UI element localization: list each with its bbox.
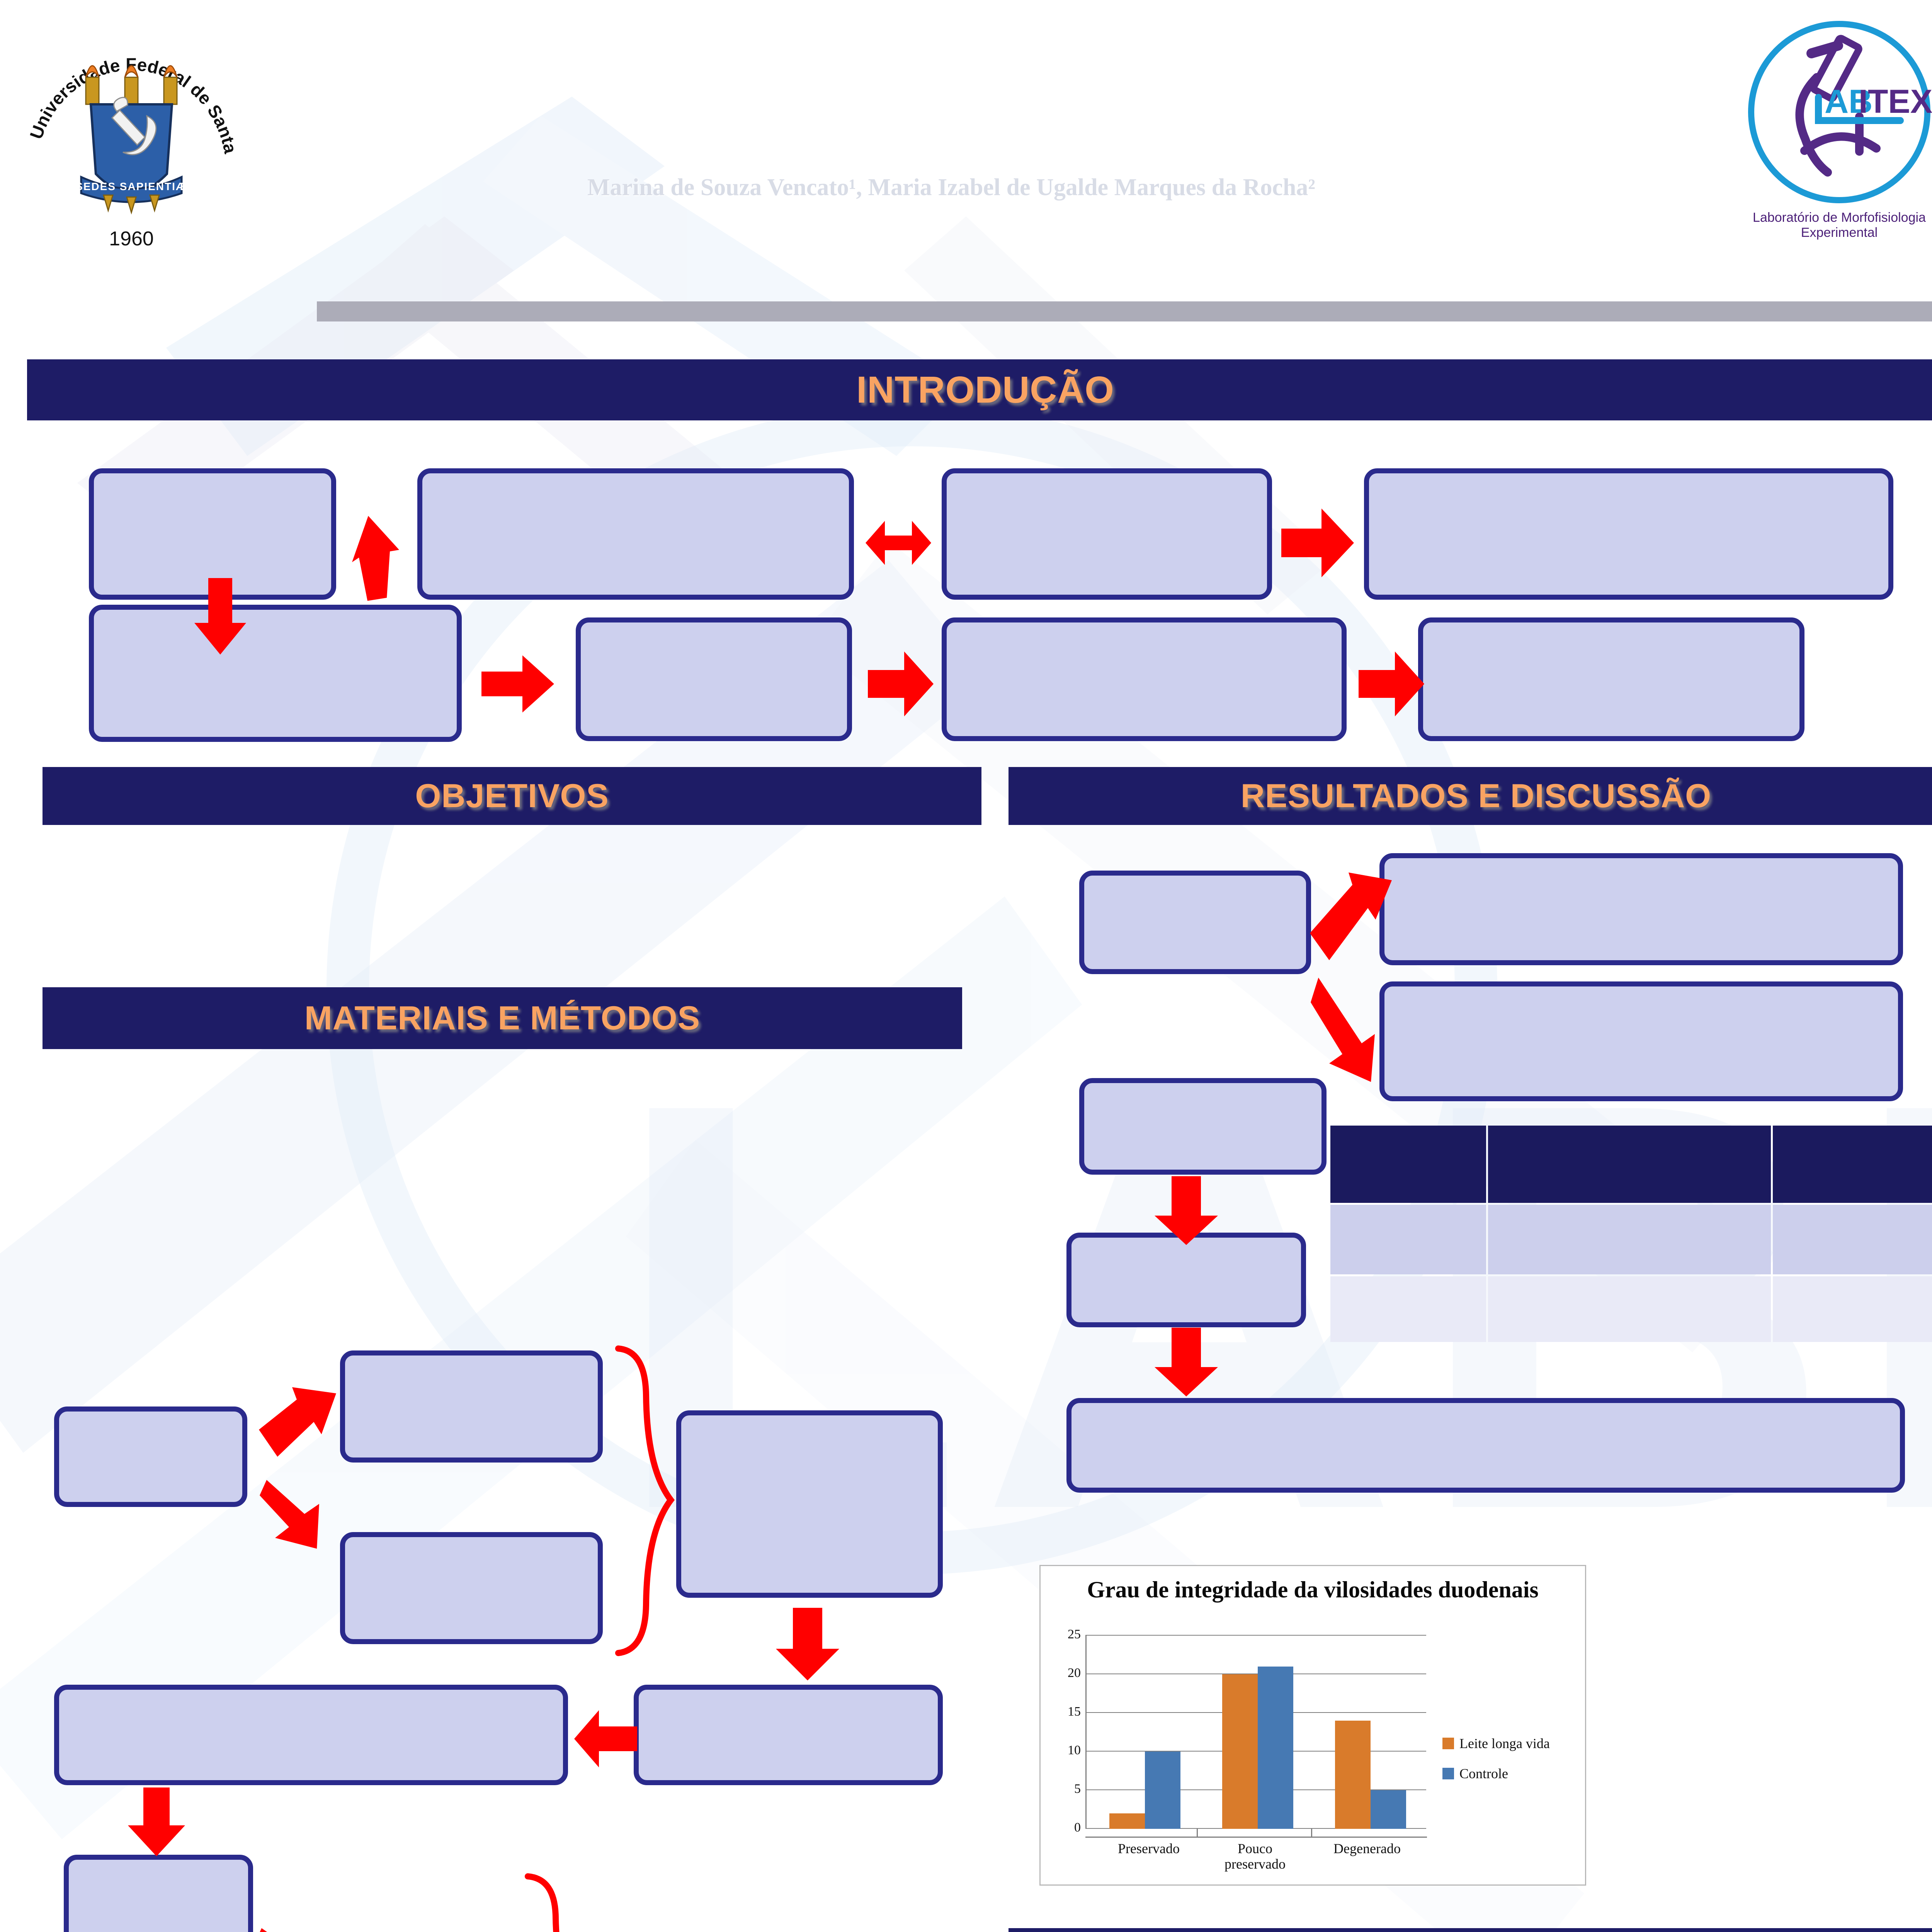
materiais-box-2[interactable] [340,1350,603,1463]
table-row [1330,1276,1932,1342]
y-axis-line [1085,1635,1087,1829]
x-tick-2 [1311,1829,1312,1837]
intro-box-2[interactable] [417,468,854,600]
header-divider-rule [317,301,1932,321]
resultados-th-1 [1330,1126,1486,1203]
arrow-diagonal-right-down-materiais [253,1917,319,1932]
arrow-down-resultados-2 [1151,1325,1221,1399]
legend-swatch-leite [1442,1738,1454,1749]
xtick-pouco-preservado: Pouco preservado [1207,1841,1303,1872]
legend-label-leite: Leite longa vida [1459,1735,1550,1752]
materiais-box-1[interactable] [54,1406,247,1507]
resultados-box-3[interactable] [1379,981,1903,1101]
section-header-introducao: INTRODUÇÃO [27,359,1932,420]
table-row-header [1330,1126,1932,1203]
intro-box-4[interactable] [1364,468,1893,600]
resultados-th-2 [1488,1126,1771,1203]
abitex-itex-text: ITEX [1859,83,1932,120]
resultados-box-1[interactable] [1079,871,1311,974]
table-row [1330,1205,1932,1274]
arrow-right-intro-3 [866,649,935,719]
resultados-td-2-3 [1773,1276,1932,1342]
intro-box-6[interactable] [576,617,852,741]
legend-label-controle: Controle [1459,1765,1508,1782]
brace-materiais-2 [514,1870,591,1932]
brace-materiais-1 [603,1341,680,1662]
bar-leite-pouco [1222,1674,1258,1829]
ytick-15: 15 [1052,1704,1081,1719]
arrow-down-materiais-1 [773,1605,842,1683]
arrow-right-intro-2 [479,653,556,715]
materiais-box-6[interactable] [54,1685,568,1785]
bar-controle-degenerado [1371,1790,1406,1829]
arrow-diagonal-down-resultados [1306,962,1395,1086]
section-header-conclusao: CONCLUSÃO [1009,1928,1932,1932]
section-title-resultados: RESULTADOS E DISCUSSÃO [1241,777,1711,815]
ytick-20: 20 [1052,1666,1081,1680]
intro-box-7[interactable] [942,617,1347,741]
chart-title: Grau de integridade da vilosidades duode… [1041,1577,1585,1603]
resultados-box-2[interactable] [1379,853,1903,965]
section-title-introducao: INTRODUÇÃO [856,368,1114,412]
materiais-box-7[interactable] [64,1855,253,1932]
legend-item-controle: Controle [1442,1765,1508,1782]
resultados-box-6[interactable] [1066,1398,1905,1493]
resultados-td-2-1 [1330,1276,1486,1342]
section-header-resultados: RESULTADOS E DISCUSSÃO [1009,767,1932,825]
arrow-left-materiais [572,1708,639,1770]
arrow-right-intro-1 [1279,506,1356,580]
arrow-down-resultados-1 [1151,1174,1221,1247]
materiais-box-4[interactable] [676,1410,943,1598]
background-watermark: LABITEX [0,0,1932,1932]
ytick-5: 5 [1052,1782,1081,1796]
materiais-box-5[interactable] [634,1685,943,1785]
resultados-td-1-1 [1330,1205,1486,1274]
section-header-objetivos: OBJETIVOS [43,767,981,825]
abitex-logo: AB ITEX Laboratório de Morfofisiologia E… [1739,15,1932,255]
bar-controle-pouco [1258,1667,1293,1829]
arrow-up-right-intro [350,512,412,605]
section-title-objetivos: OBJETIVOS [415,777,609,815]
arrow-down-materiais-2 [126,1785,187,1859]
materiais-box-3[interactable] [340,1532,603,1644]
intro-box-5[interactable] [89,605,462,742]
bar-leite-degenerado [1335,1721,1371,1829]
xtick-degenerado: Degenerado [1311,1841,1423,1857]
arrow-right-intro-4 [1356,649,1426,719]
gridline-25 [1086,1635,1426,1636]
resultados-box-4[interactable] [1079,1078,1327,1175]
bar-leite-preservado [1109,1813,1145,1829]
arrow-down-intro [191,576,249,657]
resultados-th-3 [1773,1126,1932,1203]
arrow-bidirectional-intro [862,514,935,572]
abitex-caption-line1: Laboratório de Morfofisiologia [1739,210,1932,225]
resultados-td-1-3 [1773,1205,1932,1274]
resultados-table [1328,1124,1932,1344]
section-header-materiais: MATERIAIS E MÉTODOS [43,987,962,1049]
arrow-diagonal-down-materiais [255,1468,340,1557]
arrow-diagonal-up-materiais [255,1379,340,1468]
ufsm-logo: Universidade Federal de Santa Maria [12,4,251,259]
ytick-25: 25 [1052,1627,1081,1642]
legend-item-leite: Leite longa vida [1442,1735,1550,1752]
resultados-td-1-2 [1488,1205,1771,1274]
bar-chart: Grau de integridade da vilosidades duode… [1039,1565,1586,1886]
intro-box-3[interactable] [942,468,1272,600]
svg-text:SEDES SAPIENTIÆ: SEDES SAPIENTIÆ [75,180,187,192]
ytick-10: 10 [1052,1743,1081,1758]
x-axis-line [1085,1837,1427,1838]
resultados-td-2-2 [1488,1276,1771,1342]
legend-swatch-controle [1442,1768,1454,1779]
ytick-0: 0 [1052,1820,1081,1835]
bar-controle-preservado [1145,1752,1180,1829]
section-title-materiais: MATERIAIS E MÉTODOS [304,999,700,1037]
ufsm-year: 1960 [109,228,154,250]
abitex-caption-line2: Experimental [1739,225,1932,240]
xtick-preservado: Preservado [1099,1841,1199,1857]
x-tick-1 [1197,1829,1198,1837]
intro-box-8[interactable] [1418,617,1804,741]
authors-line: Marina de Souza Vencato¹, Maria Izabel d… [587,174,1315,201]
